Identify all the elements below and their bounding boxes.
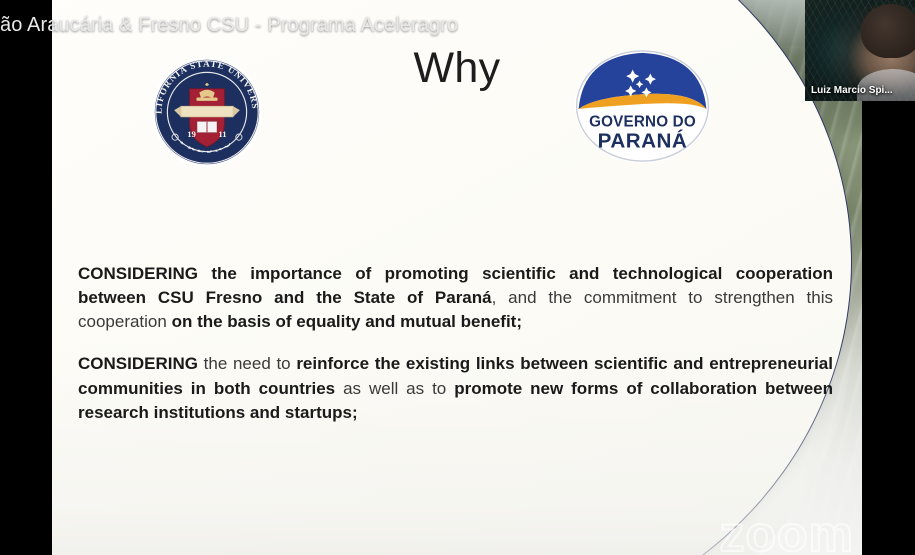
paragraph-2-run-2: the need to <box>198 354 296 373</box>
shared-slide: Why CALIFORNIA STATE UNIVERSITY FRESNO <box>52 0 862 555</box>
paragraph-2: CONSIDERING the need to reinforce the ex… <box>78 352 833 424</box>
letterbox-bar-left <box>0 0 52 555</box>
zoom-screen-share-window: Why CALIFORNIA STATE UNIVERSITY FRESNO <box>0 0 915 555</box>
participant-video-tile[interactable]: Luiz Marcio Spi... <box>805 0 915 101</box>
paragraph-2-run-4: as well as to <box>335 379 454 398</box>
paragraph-1: CONSIDERING the importance of promoting … <box>78 262 833 334</box>
svg-text:PARANÁ: PARANÁ <box>598 129 688 152</box>
slide-body-copy: CONSIDERING the importance of promoting … <box>78 262 833 425</box>
paragraph-1-run-3: on the basis of equality and mutual bene… <box>172 312 522 331</box>
zoom-watermark: zoom <box>719 505 854 555</box>
svg-text:19: 19 <box>187 129 196 139</box>
paragraph-2-run-1: CONSIDERING <box>78 354 198 373</box>
meeting-title: ão Araucária & Fresno CSU - Programa Ace… <box>0 14 458 37</box>
csu-fresno-seal-logo: CALIFORNIA STATE UNIVERSITY FRESNO <box>148 54 266 170</box>
svg-text:11: 11 <box>218 129 226 139</box>
governo-do-parana-logo: GOVERNO DO PARANÁ <box>573 48 712 164</box>
svg-text:GOVERNO DO: GOVERNO DO <box>589 114 696 131</box>
participant-name-label: Luiz Marcio Spi... <box>811 85 893 96</box>
